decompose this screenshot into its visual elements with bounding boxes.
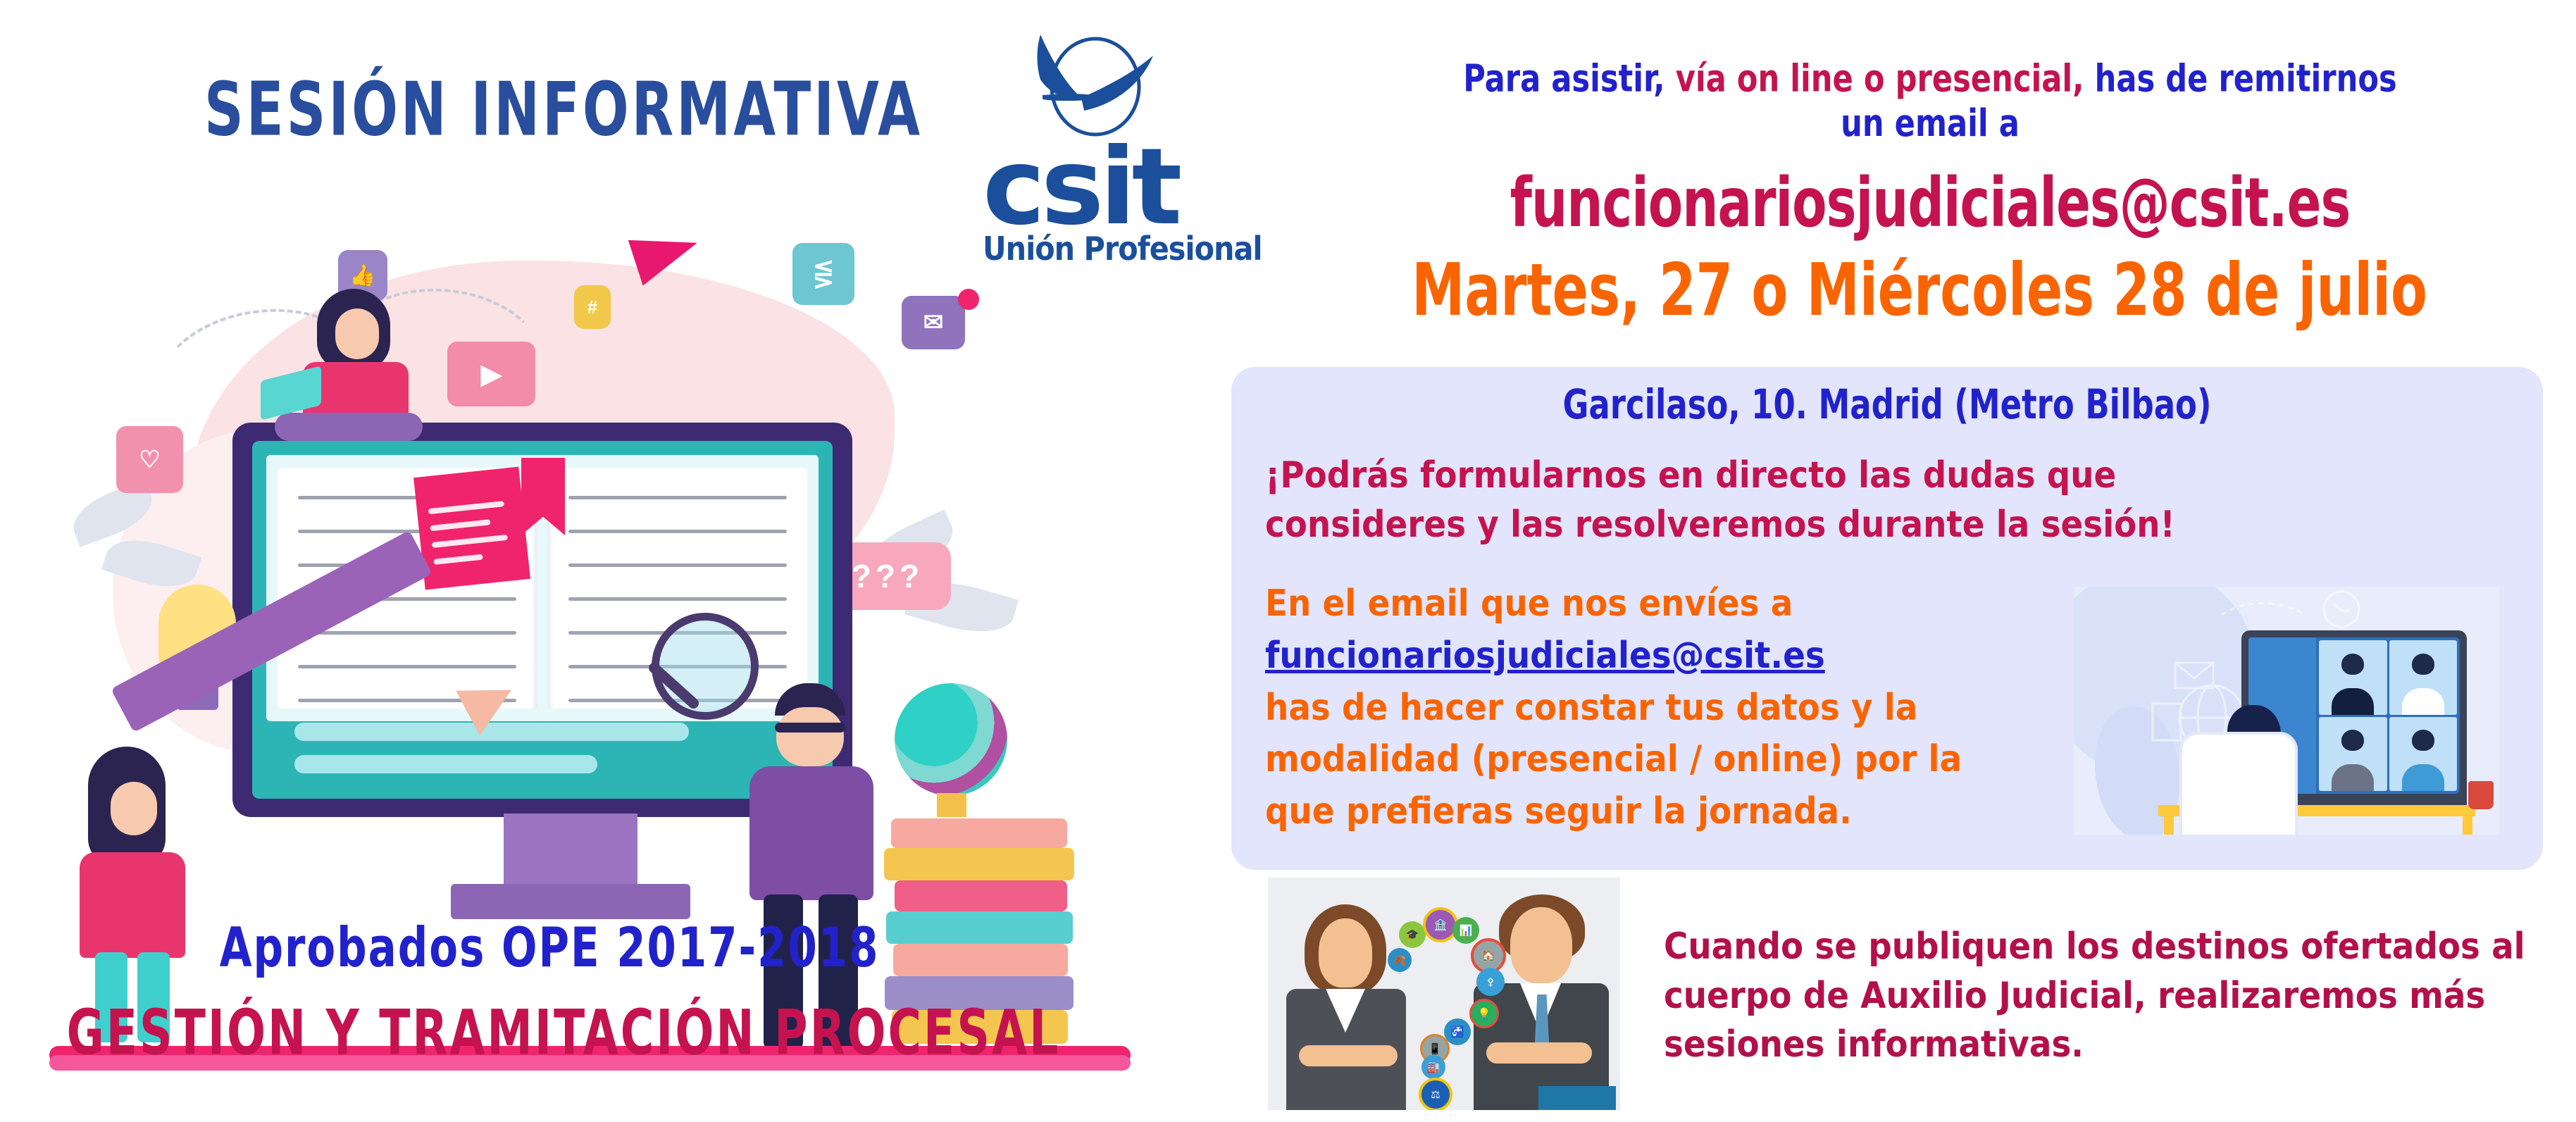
venue-address: Garcilaso, 10. Madrid (Metro Bilbao) — [1231, 381, 2543, 428]
instructions-pre: En el email que nos envíes a — [1265, 582, 1793, 625]
header-part-1: Para asistir, — [1463, 56, 1675, 101]
man-with-magnifier-figure — [733, 683, 888, 1049]
heart-like-icon: ♡ — [116, 426, 183, 493]
desk-leg — [2164, 816, 2174, 835]
factory-icon: 🏭 — [1421, 1055, 1445, 1079]
monitor-base — [451, 884, 690, 919]
coffee-mug-icon — [2468, 781, 2494, 809]
logo-tagline: Unión Profesional — [983, 230, 1278, 268]
suit-accent — [1538, 1086, 1616, 1110]
globe-stand — [937, 793, 966, 817]
lightbulb-icon: 💡 — [1469, 999, 1499, 1028]
two-business-professionals-illustration: 🍂 🎓 🏦 📊 🏠 ⚴ 💡 🚰 📱 🏭 ⚖ — [1268, 878, 1620, 1110]
chair — [2179, 732, 2298, 835]
share-icon: ⋚ — [792, 243, 854, 305]
sticky-note-icon — [413, 467, 530, 590]
book-stack-item — [895, 880, 1067, 911]
book-stack-item — [884, 848, 1074, 880]
instructions-post: has de hacer constar tus datos y la moda… — [1265, 687, 1962, 833]
face — [1319, 918, 1372, 987]
info-panel: Garcilaso, 10. Madrid (Metro Bilbao) ¡Po… — [1231, 367, 2543, 870]
crossed-arms — [1486, 1042, 1592, 1064]
email-instructions-paragraph: En el email que nos envíes a funcionario… — [1265, 578, 2026, 838]
online-learning-illustration: ♡ 👍 ▶ # ⋚ ✉ ??? — [28, 190, 1113, 895]
crossed-arms — [1299, 1045, 1398, 1066]
participant-tile — [2389, 717, 2458, 792]
email-link[interactable]: funcionariosjudiciales@csit.es — [1265, 635, 1825, 677]
participant-grid — [2316, 637, 2460, 794]
subtitle-gestion: GESTIÓN Y TRAMITACIÓN PROCESAL — [42, 997, 1085, 1068]
header-highlight: vía on line o presencial, — [1676, 56, 2084, 101]
participant-tile — [2319, 717, 2387, 792]
header-line-2: un email a — [1841, 101, 2020, 145]
participant-tile — [2319, 640, 2387, 715]
participant-tile — [2389, 640, 2458, 715]
future-sessions-note: Cuando se publiquen los destinos ofertad… — [1664, 923, 2537, 1070]
subtitle-ope: Aprobados OPE 2017-2018 — [127, 916, 972, 980]
csit-union-profesional-logo: csit Unión Profesional — [983, 25, 1278, 268]
email-headline[interactable]: funcionariosjudiciales@csit.es — [1324, 163, 2536, 242]
face — [1510, 907, 1572, 983]
header-part-3: has de remitirnos — [2084, 56, 2397, 101]
graduation-cap-icon: 🎓 — [1399, 921, 1426, 948]
video-conference-illustration — [2074, 587, 2499, 835]
water-tap-icon: 🚰 — [1444, 1018, 1471, 1045]
date-headline: Martes, 27 o Miércoles 28 de julio — [1289, 248, 2550, 332]
woman-on-laptop-figure — [261, 289, 437, 437]
poster-canvas: SESIÓN INFORMATIVA ♡ 👍 ▶ # ⋚ ✉ ??? — [0, 0, 2576, 1122]
play-video-icon: ▶ — [447, 342, 535, 406]
leaf-icon: 🍂 — [1388, 948, 1412, 972]
screen-bar — [294, 755, 597, 773]
scales-of-justice-icon: ⚖ — [1419, 1078, 1452, 1110]
globe-icon — [895, 683, 1007, 796]
medical-cup-icon: ⚴ — [1476, 968, 1505, 996]
page-title: SESIÓN INFORMATIVA — [176, 67, 951, 153]
book-stack-item — [891, 818, 1067, 848]
notification-dot — [958, 289, 979, 310]
logo-wordmark: csit — [983, 140, 1278, 235]
header-instruction: Para asistir, vía on line o presencial, … — [1324, 56, 2536, 146]
businesswoman-figure — [1275, 899, 1416, 1110]
hashtag-icon: # — [574, 285, 611, 329]
questions-paragraph: ¡Podrás formularnos en directo las dudas… — [1265, 451, 2308, 549]
envelope-icon: ✉ — [902, 296, 965, 349]
desk-leg — [2463, 816, 2472, 835]
bar-chart-icon: 📊 — [1452, 917, 1479, 944]
